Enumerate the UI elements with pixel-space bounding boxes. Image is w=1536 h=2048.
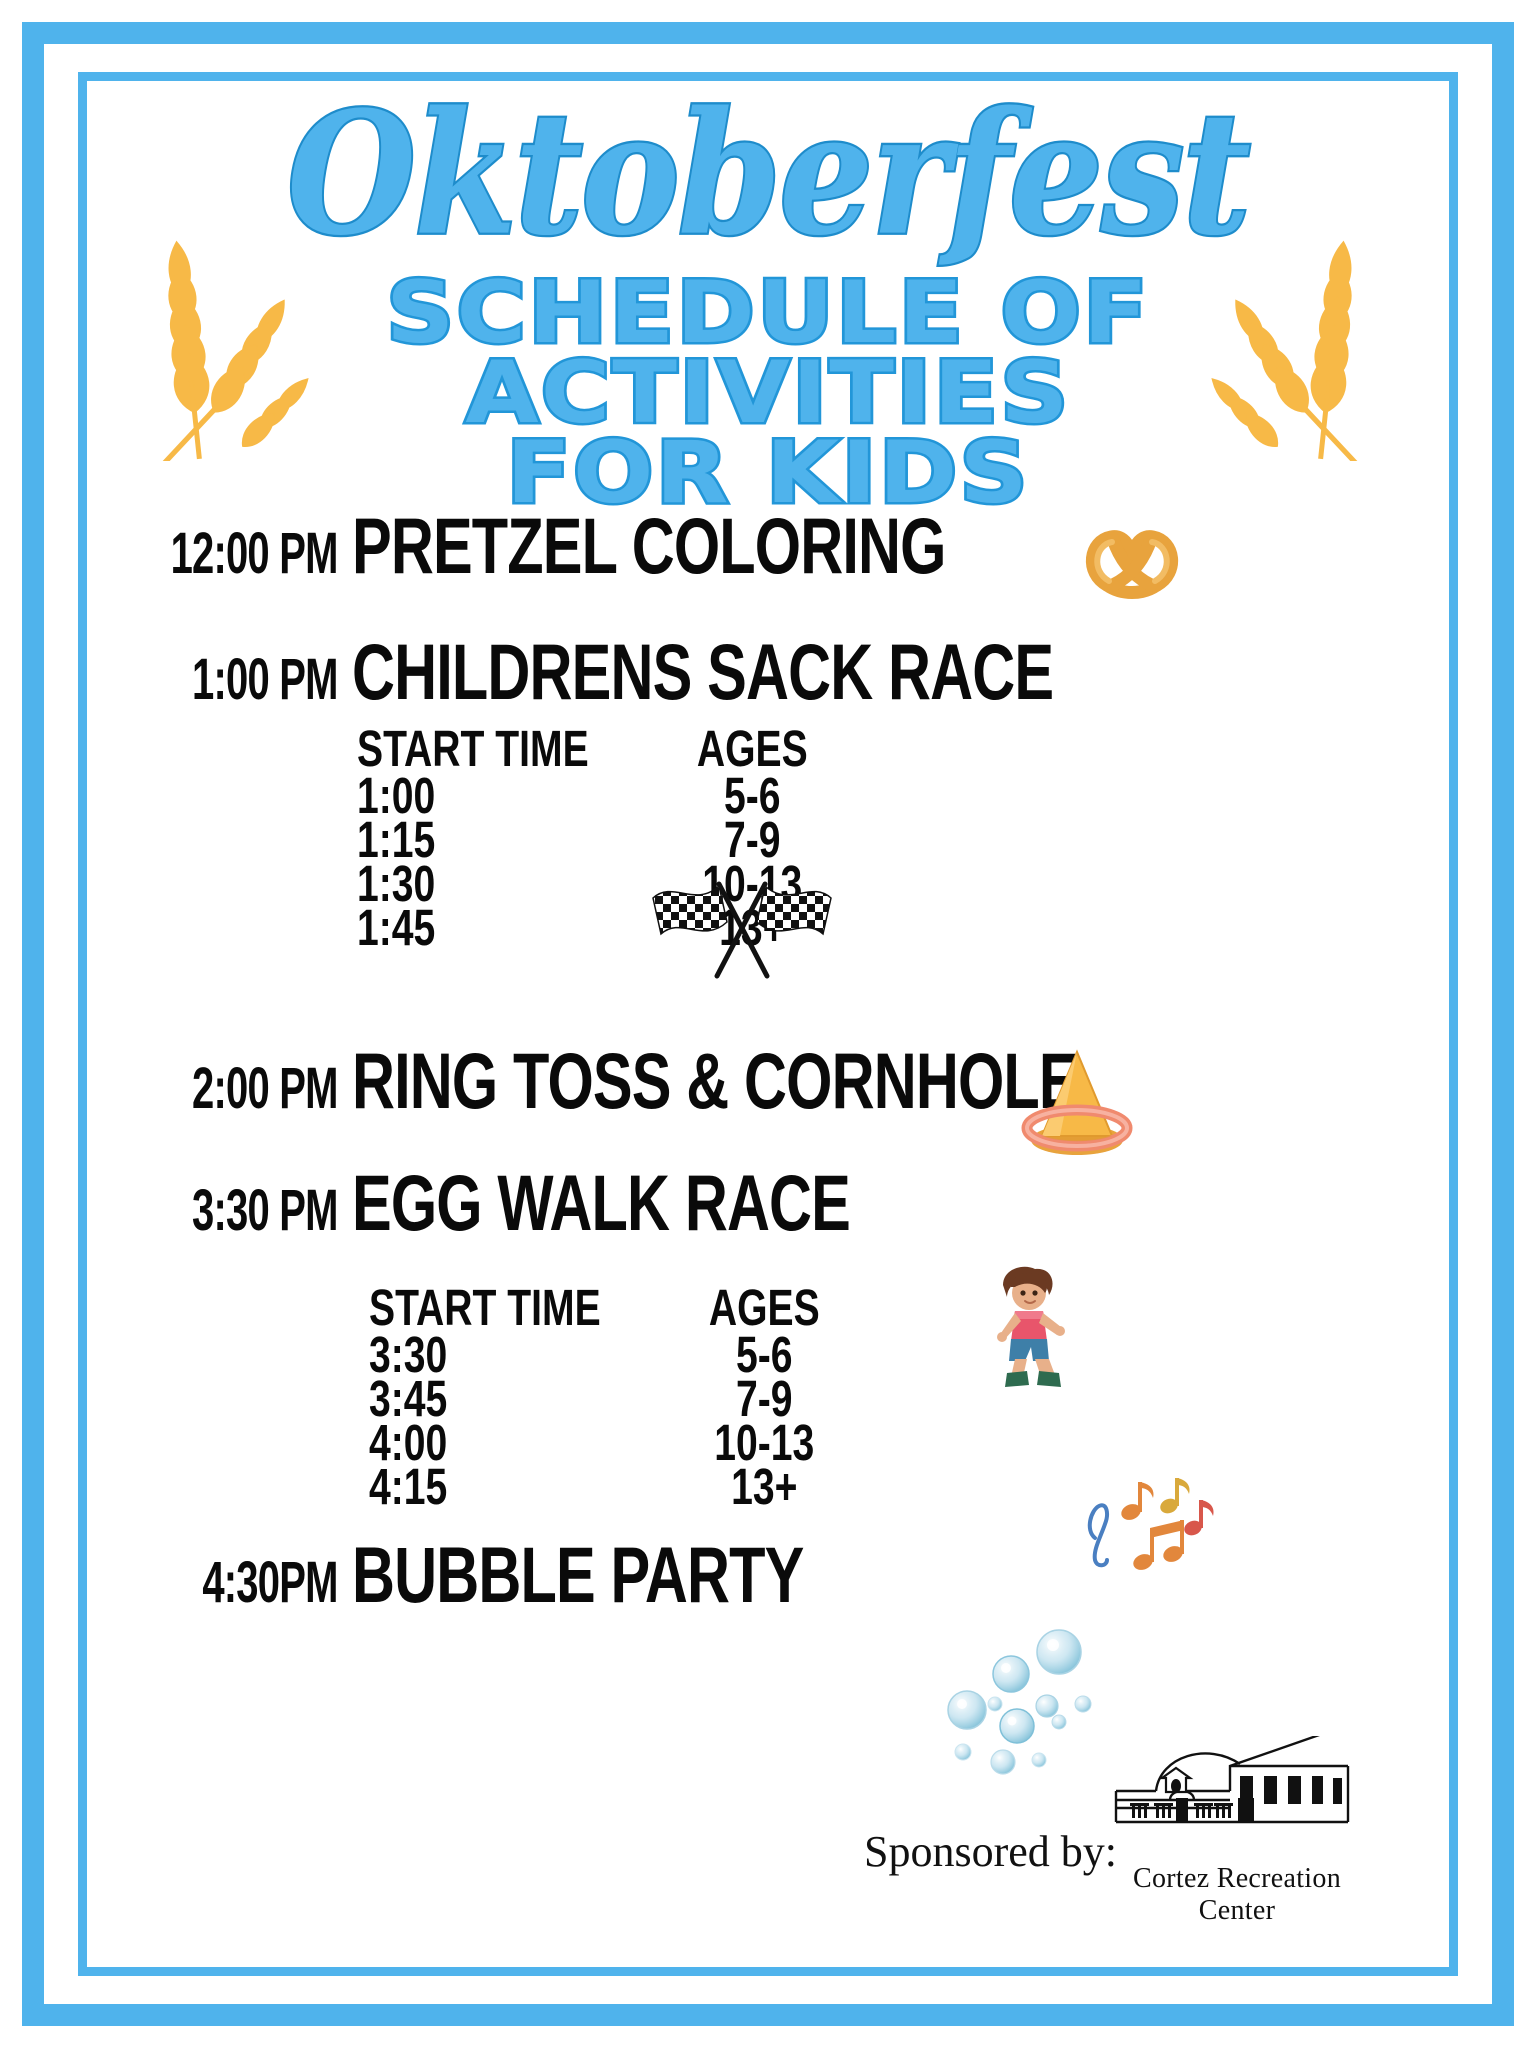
pretzel-icon xyxy=(1077,519,1187,614)
oktoberfest-poster: Oktoberfest SCHEDULE OF ACTIVITIES FOR K… xyxy=(0,0,1536,2048)
schedule-activity: CHILDRENS SACK RACE xyxy=(352,627,1053,717)
sponsor-name: Cortez Recreation Center xyxy=(1092,1863,1382,1927)
schedule-activity: PRETZEL COLORING xyxy=(352,501,946,591)
music-notes-icon xyxy=(1077,1466,1217,1591)
poster-title: Oktoberfest xyxy=(87,89,1449,258)
schedule-time: 1:00 PM xyxy=(140,646,352,713)
egg-walk-table: START TIME AGES 3:30 5-6 3:45 7-9 4:00 1… xyxy=(369,1282,1069,1507)
sponsored-by-label: Sponsored by: xyxy=(787,1826,1117,1877)
schedule-activity: RING TOSS & CORNHOLE xyxy=(352,1036,1078,1126)
sponsor-logo: Cortez Recreation Center xyxy=(1092,1736,1382,1927)
table-row: 1:00 5-6 xyxy=(357,771,952,820)
cell-start-time: 1:45 xyxy=(357,903,612,952)
schedule-time: 4:30PM xyxy=(140,1549,352,1616)
poster-content: Oktoberfest SCHEDULE OF ACTIVITIES FOR K… xyxy=(87,81,1449,1967)
checkered-flags-icon xyxy=(647,856,837,986)
table-header-row: START TIME AGES xyxy=(369,1282,964,1333)
schedule-time: 2:00 PM xyxy=(140,1054,352,1121)
table-row: 3:45 7-9 xyxy=(369,1374,964,1423)
schedule-activity: EGG WALK RACE xyxy=(352,1158,850,1248)
table-row: 4:00 10-13 xyxy=(369,1418,964,1467)
schedule-list: 12:00 PM PRETZEL COLORING 1:00 PM CHILDR… xyxy=(87,511,1449,1624)
bubbles-icon xyxy=(907,1626,1107,1811)
table-row: 4:15 13+ xyxy=(369,1462,964,1511)
schedule-row: 2:00 PM RING TOSS & CORNHOLE xyxy=(87,1046,1449,1126)
cortez-recreation-center-building-icon xyxy=(1112,1736,1362,1856)
table-header-row: START TIME AGES xyxy=(357,723,952,774)
schedule-row: 4:30PM BUBBLE PARTY xyxy=(87,1540,1449,1620)
cell-ages: 13+ xyxy=(624,1462,905,1511)
cell-start-time: 4:15 xyxy=(369,1462,624,1511)
table-row: 3:30 5-6 xyxy=(369,1330,964,1379)
schedule-row: 1:00 PM CHILDRENS SACK RACE xyxy=(87,637,1449,717)
schedule-time: 12:00 PM xyxy=(140,520,352,587)
ring-toss-icon xyxy=(1012,1036,1142,1171)
schedule-row: 12:00 PM PRETZEL COLORING xyxy=(87,511,1449,591)
walking-child-icon xyxy=(977,1261,1077,1396)
schedule-activity: BUBBLE PARTY xyxy=(352,1531,803,1621)
schedule-time: 3:30 PM xyxy=(140,1176,352,1243)
schedule-row: 3:30 PM EGG WALK RACE xyxy=(87,1168,1449,1248)
